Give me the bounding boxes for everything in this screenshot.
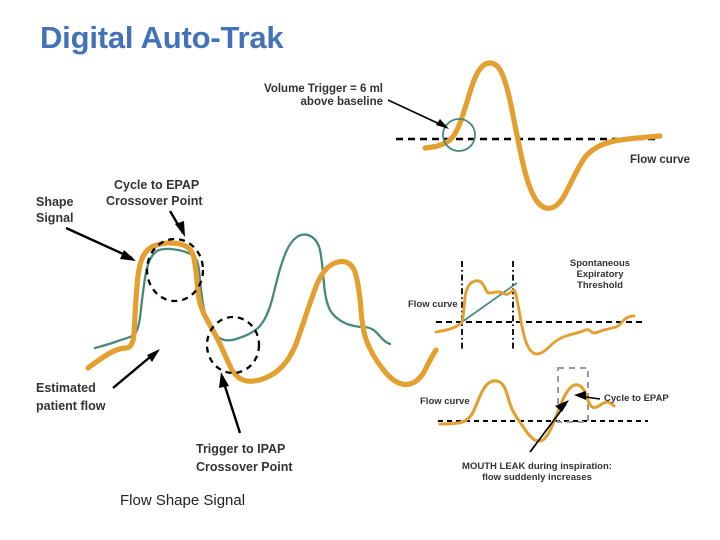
mouth-leak-flow-curve-label: Flow curve: [420, 396, 470, 407]
mouth-leak-caption-line1: MOUTH LEAK during inspiration:: [462, 461, 612, 472]
mouth-leak-arrow-line: [530, 404, 566, 452]
mouth-leak-cycle-to-epap-label: Cycle to EPAP: [604, 393, 669, 404]
figure-mouth-leak: Flow curve Cycle to EPAP MOUTH LEAK duri…: [0, 0, 720, 540]
cycle-to-epap-arrowhead: [574, 391, 586, 400]
slide-canvas: Digital Auto-Trak Volume Trigger = 6 ml …: [0, 0, 720, 540]
figure-caption: Flow Shape Signal: [120, 492, 245, 509]
flow-curve-path: [440, 381, 614, 441]
mouth-leak-caption-line2: flow suddenly increases: [482, 472, 592, 483]
